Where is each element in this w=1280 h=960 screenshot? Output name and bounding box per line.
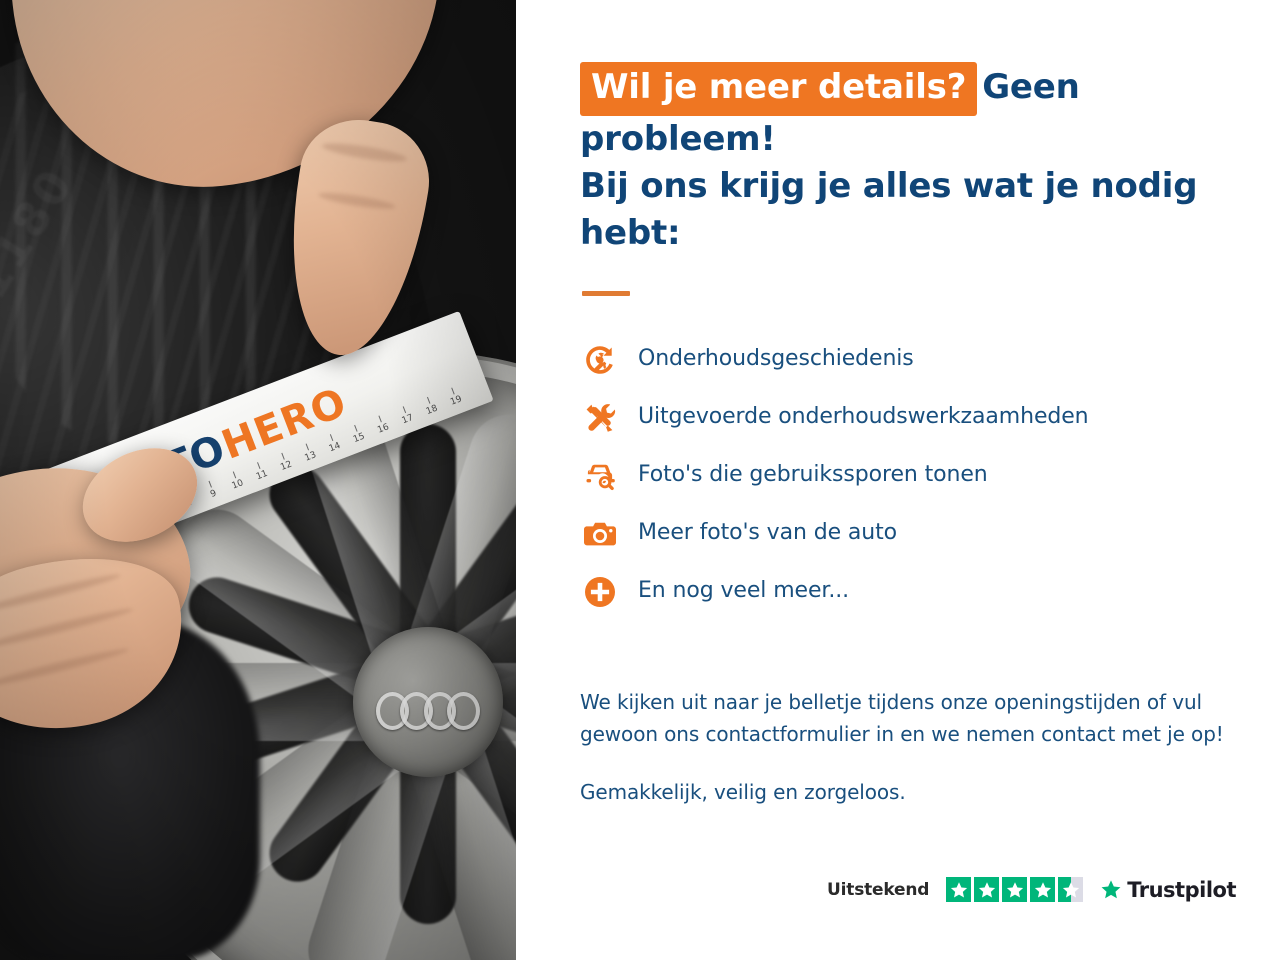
plus-circle-icon — [580, 572, 620, 612]
body-paragraph-2: Gemakkelijk, veilig en zorgeloos. — [580, 776, 1230, 808]
ruler-tick-label: 17 — [401, 413, 415, 426]
trustpilot-logo: Trustpilot — [1100, 878, 1236, 902]
headline-badge: Wil je meer details? — [580, 62, 977, 116]
ruler-tick-label: 13 — [303, 450, 317, 463]
ruler-tick-label: 16 — [376, 422, 390, 435]
ruler-tick-label: 12 — [279, 460, 293, 473]
ruler-tick-label: 19 — [449, 394, 463, 407]
car-inspection-icon — [580, 456, 620, 496]
service-history-icon — [580, 340, 620, 380]
camera-icon — [580, 514, 620, 554]
content-panel: Wil je meer details?Geen probleem! Bij o… — [516, 0, 1280, 960]
wheel-hub-cap — [353, 627, 503, 777]
photo-scene: 1180 — [0, 0, 516, 960]
trustpilot-stars — [946, 877, 1083, 902]
list-item: Uitgevoerde onderhoudswerkzaamheden — [580, 398, 1236, 438]
trustpilot-rating[interactable]: Uitstekend — [827, 877, 1236, 902]
ruler-tick-label: 11 — [255, 469, 269, 482]
list-item: Foto's die gebruikssporen tonen — [580, 456, 1236, 496]
feature-label: Foto's die gebruikssporen tonen — [638, 462, 988, 488]
list-item: Meer foto's van de auto — [580, 514, 1236, 554]
list-item: En nog veel meer... — [580, 572, 1236, 612]
page-title: Wil je meer details?Geen probleem! Bij o… — [580, 62, 1236, 257]
star-icon — [1030, 877, 1055, 902]
feature-label: En nog veel meer... — [638, 578, 849, 604]
star-icon — [1002, 877, 1027, 902]
headline-line-two: Bij ons krijg je alles wat je nodig hebt… — [580, 163, 1236, 257]
ruler-tick-label: 10 — [231, 478, 245, 491]
feature-list: Onderhoudsgeschiedenis Uitgevoerde onder… — [580, 340, 1236, 612]
trustpilot-star-icon — [1100, 879, 1122, 900]
star-icon — [974, 877, 999, 902]
ruler-tick-label: 14 — [328, 441, 342, 454]
star-icon — [946, 877, 971, 902]
hero-photo: 1180 — [0, 0, 516, 960]
ruler-tick-label: 9 — [209, 488, 218, 499]
star-half-icon — [1058, 877, 1083, 902]
feature-label: Uitgevoerde onderhoudswerkzaamheden — [638, 404, 1089, 430]
promo-banner: 1180 — [0, 0, 1280, 960]
feature-label: Onderhoudsgeschiedenis — [638, 346, 914, 372]
trustpilot-wordmark: Trustpilot — [1127, 878, 1236, 902]
list-item: Onderhoudsgeschiedenis — [580, 340, 1236, 380]
orange-divider — [582, 291, 630, 296]
ruler-tick-label: 18 — [425, 404, 439, 417]
feature-label: Meer foto's van de auto — [638, 520, 897, 546]
tools-icon — [580, 398, 620, 438]
body-copy: We kijken uit naar je belletje tijdens o… — [580, 686, 1230, 809]
body-paragraph-1: We kijken uit naar je belletje tijdens o… — [580, 686, 1230, 751]
audi-rings-emblem — [376, 696, 480, 726]
trustpilot-rating-word: Uitstekend — [827, 880, 929, 900]
ruler-tick-label: 15 — [352, 432, 366, 445]
